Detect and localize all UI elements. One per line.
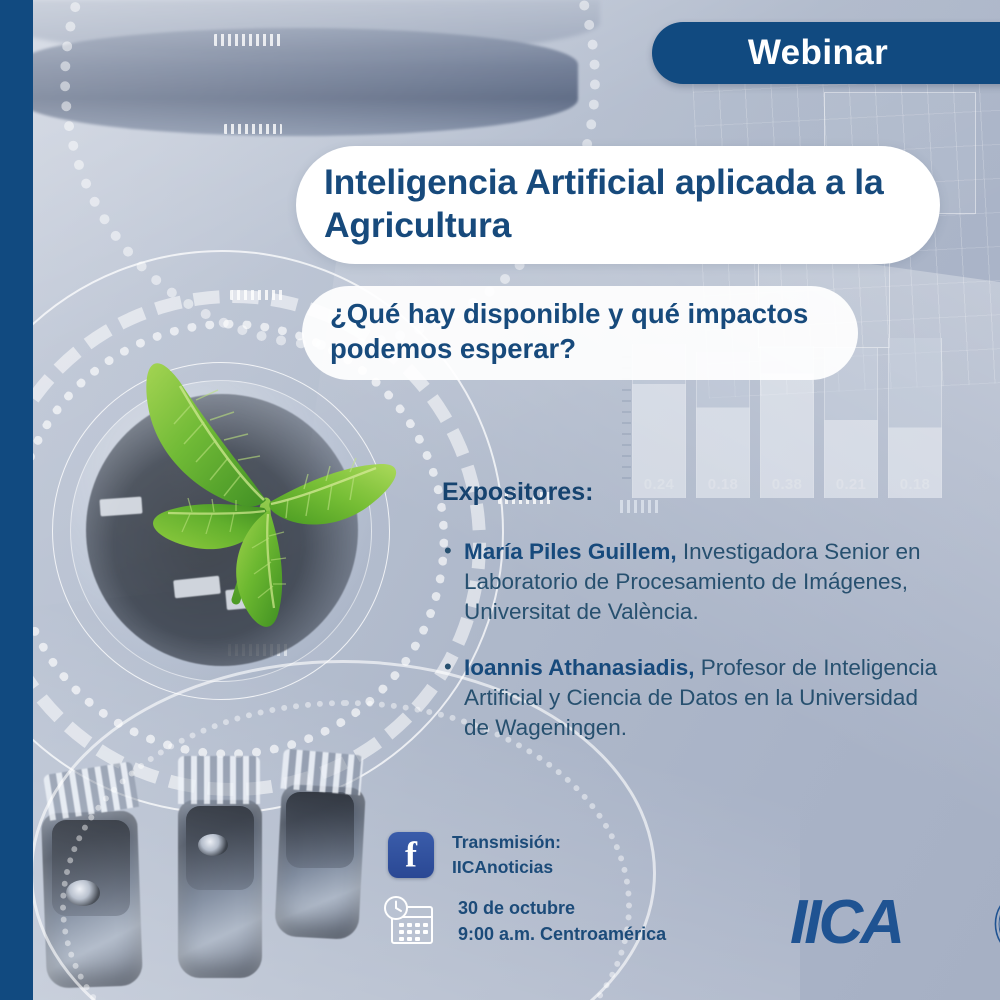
speakers-list: María Piles Guillem, Investigadora Senio… xyxy=(442,537,942,743)
subtitle-pill: ¿Qué hay disponible y qué impactos podem… xyxy=(302,286,858,380)
broadcast-label: Transmisión: xyxy=(452,830,561,855)
left-accent-bar xyxy=(0,0,33,1000)
speakers-heading: Expositores: xyxy=(442,478,942,507)
speakers-section: Expositores: María Piles Guillem, Invest… xyxy=(442,478,942,769)
facebook-icon[interactable] xyxy=(388,832,434,878)
webinar-badge: Webinar xyxy=(652,22,1000,84)
schedule-date: 30 de octubre xyxy=(458,896,666,922)
calendar-clock-icon xyxy=(382,893,440,951)
webinar-badge-label: Webinar xyxy=(748,33,946,73)
schedule-text: 30 de octubre 9:00 a.m. Centroamérica xyxy=(458,896,666,947)
iica-logo: IICA IICA INTER-AM xyxy=(790,888,1000,960)
speaker-name: María Piles Guillem, xyxy=(464,539,677,564)
iica-wordmark: IICA xyxy=(790,893,990,955)
svg-text:IICA: IICA xyxy=(790,893,902,955)
speaker-name: Ioannis Athanasiadis, xyxy=(464,655,694,680)
schedule-row: 30 de octubre 9:00 a.m. Centroamérica xyxy=(382,893,666,951)
webinar-poster: 0.24 0.18 0.38 0.21 0.18 xyxy=(0,0,1000,1000)
page-subtitle: ¿Qué hay disponible y qué impactos podem… xyxy=(330,297,830,366)
iica-seal-icon: INTER-AMERICAN INSTITUTE FOR COOPERATION… xyxy=(994,888,1000,960)
broadcast-row: Transmisión: IICAnoticias xyxy=(388,830,561,880)
broadcast-channel: IICAnoticias xyxy=(452,855,561,880)
speaker-item: María Piles Guillem, Investigadora Senio… xyxy=(442,537,942,627)
page-title: Inteligencia Artificial aplicada a la Ag… xyxy=(324,161,906,248)
broadcast-text: Transmisión: IICAnoticias xyxy=(452,830,561,880)
title-pill: Inteligencia Artificial aplicada a la Ag… xyxy=(296,146,940,264)
schedule-time: 9:00 a.m. Centroamérica xyxy=(458,922,666,948)
speaker-item: Ioannis Athanasiadis, Profesor de Inteli… xyxy=(442,653,942,743)
